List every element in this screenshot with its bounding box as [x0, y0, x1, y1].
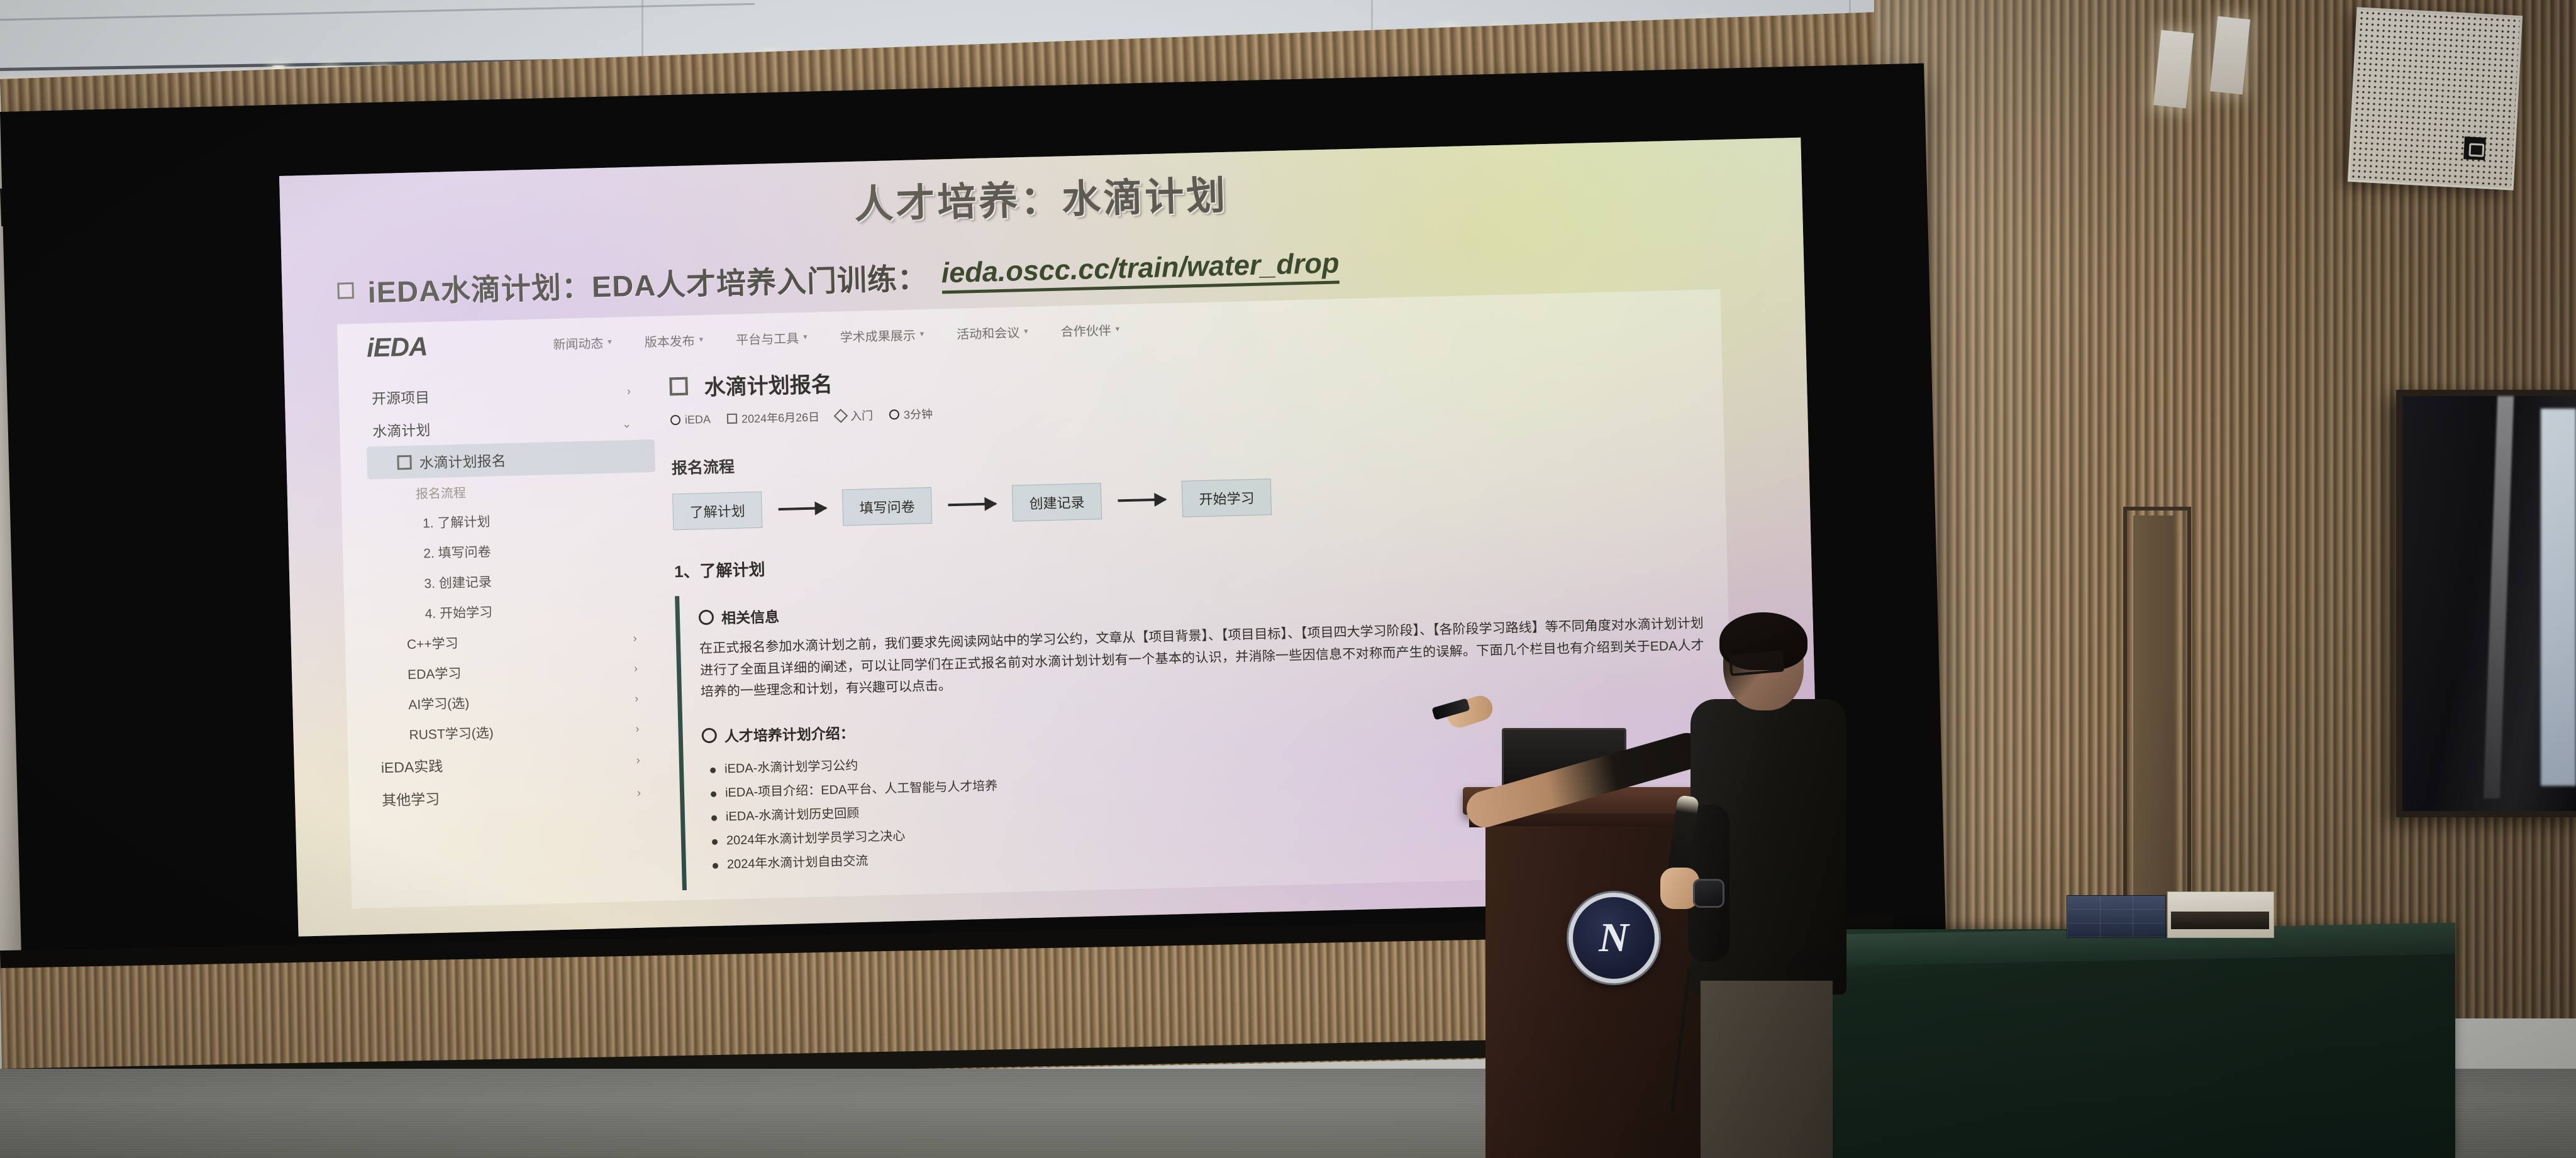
emblem-monogram: N [1599, 917, 1629, 959]
nav-item-label: 合作伙伴 [1060, 320, 1111, 339]
presenter [1654, 616, 1862, 1158]
info-icon [699, 610, 714, 626]
chevron-down-icon: ▾ [699, 334, 703, 345]
window-light-strip [2541, 409, 2576, 786]
slide-title: 人才培养：水滴计划 [645, 158, 1437, 234]
sidebar-item-label: 开源项目 [372, 385, 430, 408]
list-item-label: 2024年水滴计划学员学习之决心 [726, 824, 906, 852]
sidebar-item-label: C++学习 [407, 633, 458, 653]
chevron-right-icon: › [633, 631, 638, 644]
document-icon [669, 377, 688, 396]
sidebar-item-label: 其他学习 [382, 787, 440, 810]
site-sidebar: 开源项目 › 水滴计划 ⌄ 水滴计划报名 报名流程 [338, 368, 666, 908]
callout-heading-text: 相关信息 [721, 605, 780, 627]
white-box-shadow-band [2171, 912, 2269, 929]
level-icon [834, 409, 848, 423]
flow-arrow-icon [948, 502, 996, 506]
site-nav: 新闻动态 ▾ 版本发布 ▾ 平台与工具 ▾ 学术成果展示 ▾ [553, 320, 1120, 353]
blue-storage-box [2067, 895, 2166, 938]
meta-level-text: 入门 [850, 407, 874, 424]
chevron-down-icon: ⌄ [622, 417, 632, 430]
sidebar-item-label: 4. 开始学习 [425, 602, 492, 623]
chevron-down-icon: ▾ [1115, 324, 1119, 334]
chevron-down-icon: ▾ [919, 329, 924, 339]
chevron-right-icon: › [636, 753, 640, 766]
sidebar-item-label: 1. 了解计划 [423, 512, 491, 532]
flow-step-4: 开始学习 [1182, 478, 1272, 517]
sidebar-item-label: 3. 创建记录 [424, 572, 492, 593]
bullet-dot-icon [710, 768, 716, 773]
list-item-label: iEDA-水滴计划学习公约 [724, 754, 858, 781]
institution-emblem: N [1568, 893, 1659, 983]
site-logo[interactable]: iEDA [366, 331, 428, 363]
bullet-dot-icon [711, 791, 716, 797]
sidebar-item-label: 报名流程 [415, 483, 466, 502]
meta-date-text: 2024年6月26日 [741, 408, 820, 426]
nav-item-research[interactable]: 学术成果展示 ▾ [840, 325, 924, 345]
meta-date: 2024年6月26日 [727, 408, 820, 427]
wall-speaker [2348, 7, 2523, 190]
meta-readtime-text: 3分钟 [904, 405, 933, 422]
list-item-label: iEDA-水滴计划历史回顾 [726, 802, 860, 829]
meta-readtime: 3分钟 [889, 405, 933, 423]
sidebar-item-other-learning[interactable]: 其他学习 › [375, 776, 663, 816]
author-icon [670, 415, 680, 425]
clock-icon [889, 409, 899, 419]
sidebar-item-label: 水滴计划报名 [419, 449, 506, 472]
signup-flow-diagram: 了解计划 填写问卷 创建记录 开始学习 [672, 468, 1701, 530]
sidebar-item-label: EDA学习 [408, 663, 462, 683]
nav-item-label: 平台与工具 [736, 328, 799, 348]
chevron-down-icon: ▾ [608, 337, 612, 347]
chevron-right-icon: › [637, 786, 641, 799]
info-icon [701, 728, 717, 744]
nav-item-label: 学术成果展示 [840, 325, 916, 345]
side-door[interactable] [2133, 516, 2173, 956]
slide-subtitle: iEDA水滴计划：EDA人才培养入门训练： [367, 254, 928, 312]
document-icon [397, 455, 412, 470]
meta-author: iEDA [670, 412, 711, 427]
chevron-down-icon: ▾ [803, 332, 808, 342]
sidebar-item-label: 2. 填写问卷 [423, 542, 491, 563]
sidebar-item-label: 水滴计划 [372, 418, 431, 441]
chevron-right-icon: › [635, 692, 639, 705]
sidebar-item-label: iEDA实践 [380, 754, 443, 777]
nav-item-label: 版本发布 [644, 331, 695, 350]
list-item-label: 2024年水滴计划自由交流 [726, 849, 868, 877]
wristwatch [1693, 879, 1724, 908]
nav-item-label: 新闻动态 [553, 333, 604, 353]
chevron-down-icon: ▾ [1024, 326, 1028, 336]
slide-hyperlink[interactable]: ieda.oscc.cc/train/water_drop [941, 246, 1340, 294]
bullet-dot-icon [711, 815, 717, 821]
bullet-dot-icon [713, 863, 718, 869]
chevron-right-icon: › [634, 661, 638, 675]
calendar-icon [727, 414, 737, 424]
microphone-cable [1670, 969, 1691, 1113]
flow-arrow-icon [779, 507, 826, 510]
nav-item-partners[interactable]: 合作伙伴 ▾ [1060, 320, 1119, 339]
flow-step-1: 了解计划 [672, 492, 762, 531]
lecture-hall-photo: 人才培养：水滴计划 iEDA水滴计划：EDA人才培养入门训练： ieda.osc… [0, 0, 2576, 1158]
bullet-dot-icon [712, 839, 718, 845]
nav-item-platform-tools[interactable]: 平台与工具 ▾ [736, 328, 808, 348]
chevron-right-icon: › [627, 384, 631, 397]
nav-item-label: 活动和会议 [957, 323, 1020, 343]
meta-author-text: iEDA [685, 412, 711, 426]
sidebar-item-label: AI学习(选) [408, 693, 470, 714]
sidebar-item-label: RUST学习(选) [409, 723, 494, 744]
chevron-right-icon: › [635, 722, 640, 735]
speaker-brand-badge [2463, 136, 2486, 160]
nav-item-releases[interactable]: 版本发布 ▾ [644, 331, 703, 350]
flow-step-3: 创建记录 [1012, 483, 1102, 522]
page-title-text: 水滴计划报名 [704, 367, 833, 401]
flow-arrow-icon [1118, 498, 1165, 502]
nav-item-events[interactable]: 活动和会议 ▾ [957, 322, 1028, 342]
callout-paragraph: 在正式报名参加水滴计划之前，我们要求先阅读网站中的学习公约，文章从【项目背景】、… [699, 613, 1705, 703]
presenter-legs [1701, 981, 1833, 1158]
meta-level: 入门 [836, 407, 874, 424]
bullet-square-icon [337, 282, 354, 299]
callout-list-heading-text: 人才培养计划介绍： [724, 721, 855, 746]
nav-item-news[interactable]: 新闻动态 ▾ [553, 333, 612, 352]
flow-step-2: 填写问卷 [842, 487, 932, 526]
